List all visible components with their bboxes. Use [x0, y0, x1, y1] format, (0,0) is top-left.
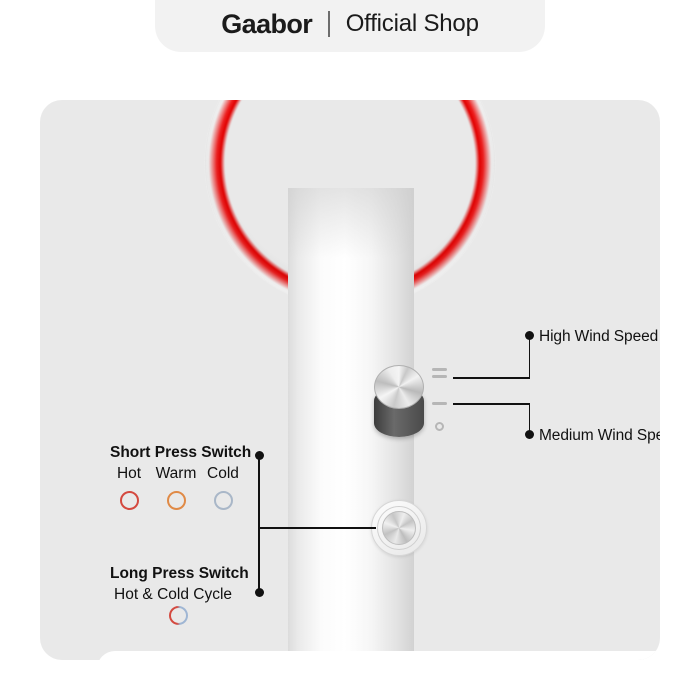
medium-wind-callout-label: Medium Wind Speed [539, 427, 660, 445]
long-press-switch-subtitle: Hot & Cold Cycle [114, 586, 232, 604]
hot-cold-cycle-circle-wrapper [169, 606, 188, 625]
medium-wind-callout-line-vertical [529, 403, 531, 435]
speed-indicator-marks [432, 368, 454, 428]
short-press-switch-title: Short Press Switch [110, 444, 251, 462]
high-wind-callout-line-horizontal [453, 377, 530, 379]
header-banner: Gaabor Official Shop [155, 0, 545, 52]
mode-item-warm: Warm [157, 465, 195, 510]
long-press-switch-title: Long Press Switch [110, 565, 249, 583]
mode-circle-warm-icon [167, 491, 186, 510]
medium-wind-callout-line-horizontal [453, 403, 530, 405]
dryer-handle-shading [288, 188, 414, 258]
mode-circle-cold-icon [214, 491, 233, 510]
temperature-button[interactable] [371, 500, 427, 556]
speed-slider-switch[interactable] [374, 365, 424, 437]
mode-label-hot: Hot [117, 465, 141, 483]
high-wind-callout-label: High Wind Speed [539, 328, 658, 346]
mode-label-warm: Warm [156, 465, 197, 483]
product-panel: High Wind Speed Medium Wind Speed Short … [40, 100, 660, 660]
long-press-callout-dot [255, 588, 264, 597]
brand-logo: Gaabor [221, 9, 312, 40]
shop-label: Official Shop [346, 10, 479, 38]
mode-item-cold: Cold [204, 465, 242, 510]
temperature-mode-list: Hot Warm Cold [110, 465, 242, 510]
summary-card: 8 Mode Pengeringan Sesuaikan pengalaman … [97, 651, 660, 660]
speed-switch-knob[interactable] [374, 365, 424, 409]
mode-circle-hot-cold-cycle-icon [169, 606, 188, 625]
high-speed-mark-upper-icon [432, 368, 447, 371]
left-callout-line-vertical [258, 455, 260, 593]
high-wind-callout-line-vertical [529, 336, 531, 378]
header-divider [328, 11, 330, 37]
mode-item-hot: Hot [110, 465, 148, 510]
high-speed-mark-lower-icon [432, 375, 447, 378]
left-callout-line-horizontal [258, 527, 376, 529]
power-off-mark-icon [435, 422, 444, 431]
mode-circle-hot-icon [120, 491, 139, 510]
temperature-button-core [382, 511, 416, 545]
short-press-callout-dot [255, 451, 264, 460]
temperature-button-ring [377, 506, 421, 550]
mode-label-cold: Cold [207, 465, 239, 483]
medium-speed-mark-icon [432, 402, 447, 405]
